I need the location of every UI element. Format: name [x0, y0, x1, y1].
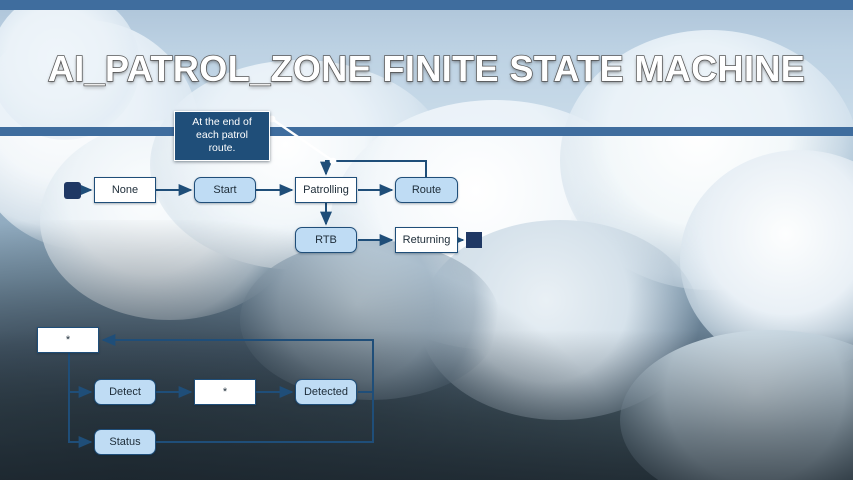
state-label: Route: [412, 184, 441, 196]
state-label: None: [112, 184, 138, 196]
callout-leader-line: [269, 116, 337, 165]
state-label: Start: [213, 184, 236, 196]
state-node-detected[interactable]: Detected: [295, 379, 357, 405]
callout-note[interactable]: At the end of each patrol route.: [174, 111, 270, 161]
state-label: Returning: [403, 234, 451, 246]
end-state-marker: [466, 232, 482, 248]
state-label: RTB: [315, 234, 337, 246]
state-label: *: [223, 386, 227, 398]
start-state-marker: [64, 182, 81, 199]
state-node-rtb[interactable]: RTB: [295, 227, 357, 253]
state-label: *: [66, 334, 70, 346]
state-node-any-mid[interactable]: *: [194, 379, 256, 405]
callout-line-2: each patrol route.: [183, 129, 261, 155]
state-label: Patrolling: [303, 184, 349, 196]
state-label: Detect: [109, 386, 141, 398]
slide-canvas: AI_PATROL_ZONE FINITE STATE MACHINE: [0, 0, 853, 480]
state-node-route[interactable]: Route: [395, 177, 458, 203]
state-node-any-top[interactable]: *: [37, 327, 99, 353]
state-node-patrolling[interactable]: Patrolling: [295, 177, 357, 203]
state-node-returning[interactable]: Returning: [395, 227, 458, 253]
state-label: Status: [109, 436, 140, 448]
state-node-none[interactable]: None: [94, 177, 156, 203]
callout-line-1: At the end of: [183, 116, 261, 129]
state-label: Detected: [304, 386, 348, 398]
state-node-detect[interactable]: Detect: [94, 379, 156, 405]
state-node-start[interactable]: Start: [194, 177, 256, 203]
state-node-status[interactable]: Status: [94, 429, 156, 455]
